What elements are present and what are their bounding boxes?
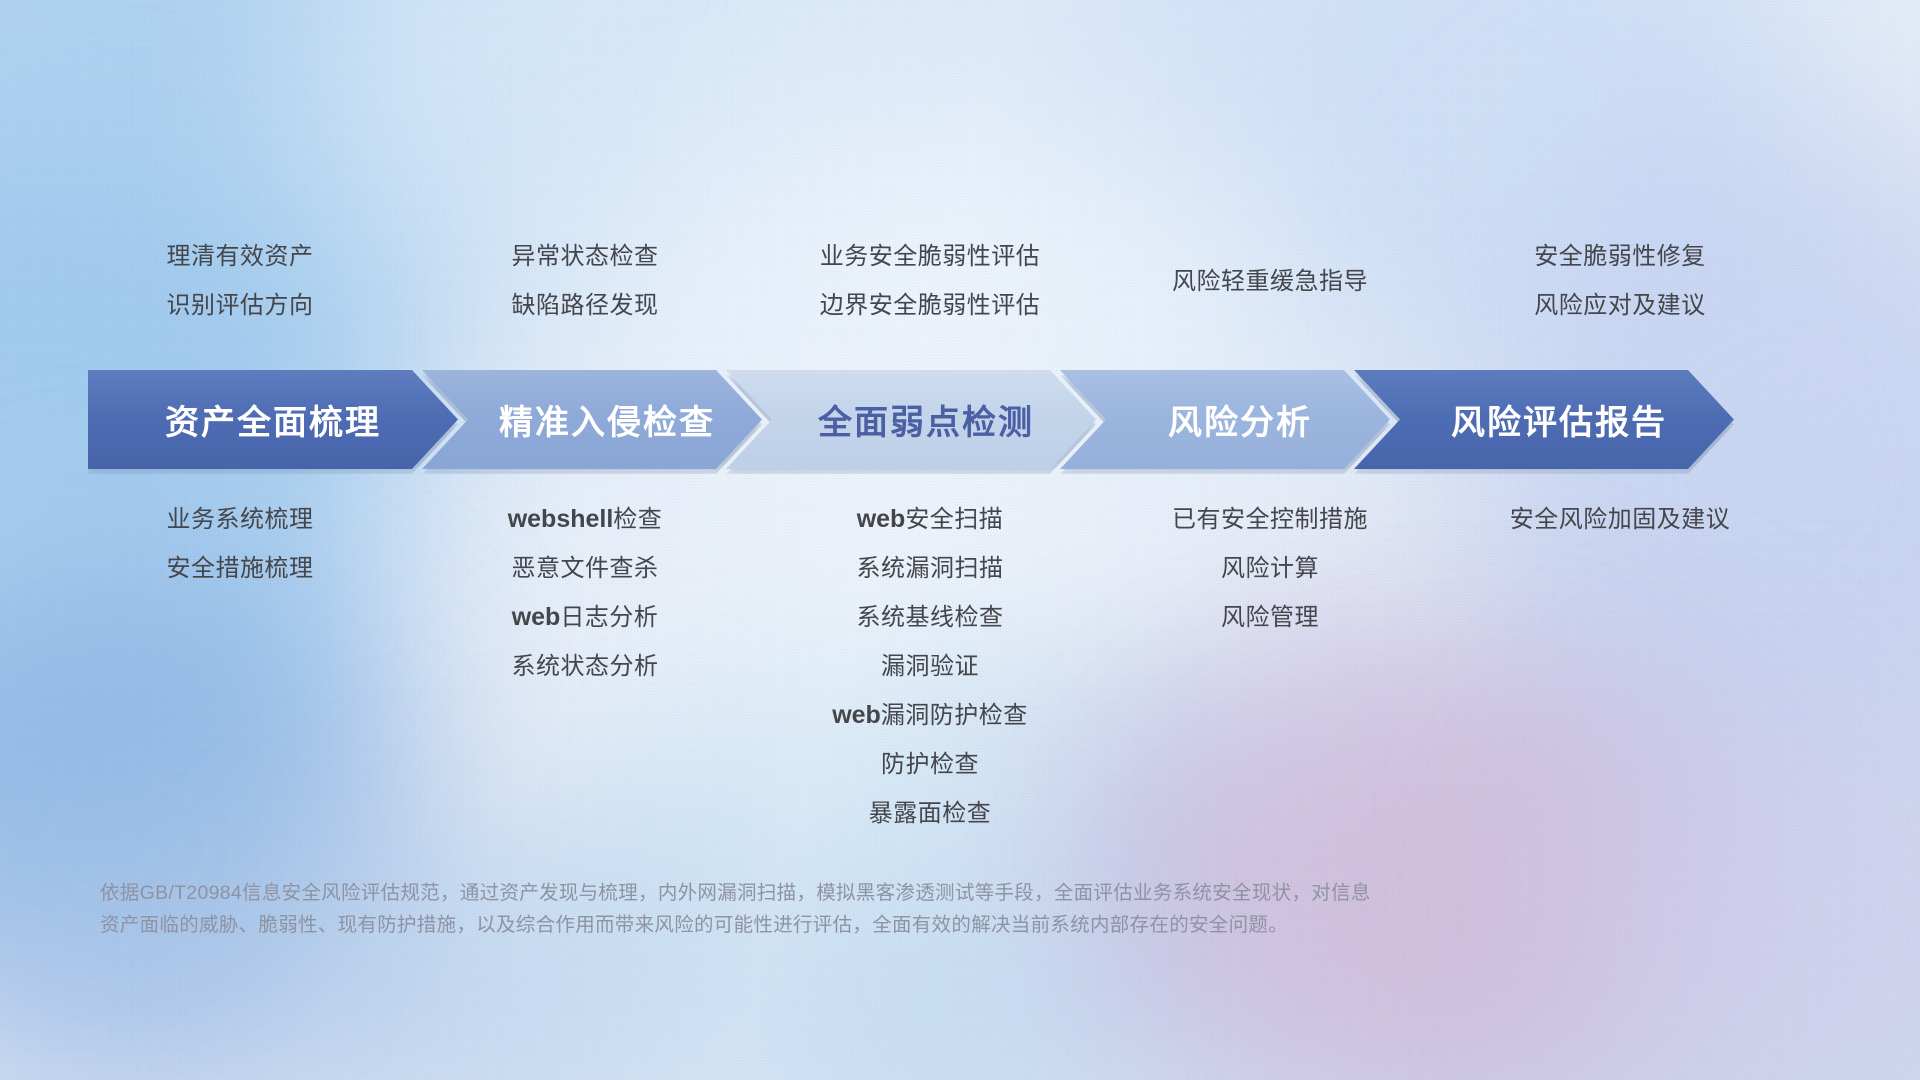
stage-label: 资产全面梳理 [165, 395, 381, 444]
top-item: 识别评估方向 [75, 281, 405, 330]
bottom-item-text: 防护检查 [881, 751, 979, 778]
top-items-asset-inventory: 理清有效资产识别评估方向 [75, 232, 405, 330]
bottom-item: 风险计算 [1125, 544, 1415, 593]
bottom-items-risk-analysis: 已有安全控制措施风险计算风险管理 [1125, 495, 1415, 642]
bottom-item: 恶意文件查杀 [435, 544, 735, 593]
top-item: 风险应对及建议 [1455, 281, 1785, 330]
top-item: 缺陷路径发现 [435, 281, 735, 330]
bottom-item: 漏洞验证 [765, 642, 1095, 691]
bottom-item-text: 恶意文件查杀 [512, 555, 659, 582]
bottom-item-text: 系统状态分析 [512, 653, 659, 680]
top-item: 边界安全脆弱性评估 [765, 281, 1095, 330]
bottom-item-text: 系统漏洞扫描 [857, 555, 1004, 582]
bottom-item-text: 日志分析 [560, 604, 658, 631]
bottom-item-text: 系统基线检查 [857, 604, 1004, 631]
bottom-item: 已有安全控制措施 [1125, 495, 1415, 544]
bottom-detail-row: 业务系统梳理安全措施梳理webshell检查恶意文件查杀web日志分析系统状态分… [0, 495, 1920, 838]
bottom-items-intrusion-check: webshell检查恶意文件查杀web日志分析系统状态分析 [435, 495, 735, 691]
bottom-item: 安全措施梳理 [75, 544, 405, 593]
bottom-item-text: 漏洞防护检查 [881, 702, 1028, 729]
bottom-item: 暴露面检查 [765, 789, 1095, 838]
top-item: 业务安全脆弱性评估 [765, 232, 1095, 281]
bottom-item-text: 安全风险加固及建议 [1510, 506, 1731, 533]
bottom-item: 风险管理 [1125, 593, 1415, 642]
bottom-item: web日志分析 [435, 593, 735, 642]
bottom-item: webshell检查 [435, 495, 735, 544]
bottom-item-en: web [512, 603, 561, 631]
bottom-items-asset-inventory: 业务系统梳理安全措施梳理 [75, 495, 405, 593]
stage-chevron-risk-report[interactable]: 风险评估报告 [1354, 370, 1734, 469]
top-items-risk-analysis: 风险轻重缓急指导 [1125, 232, 1415, 306]
footer-line-2: 资产面临的威胁、脆弱性、现有防护措施，以及综合作用而带来风险的可能性进行评估，全… [100, 909, 1640, 941]
bottom-item-text: 已有安全控制措施 [1172, 506, 1368, 533]
top-items-risk-report: 安全脆弱性修复风险应对及建议 [1455, 232, 1785, 330]
bottom-item-en: web [857, 505, 906, 533]
bottom-item-text: 暴露面检查 [869, 800, 992, 827]
bottom-item-en: webshell [508, 505, 614, 533]
stage-chevron-risk-analysis[interactable]: 风险分析 [1060, 370, 1390, 469]
stage-label: 全面弱点检测 [818, 395, 1034, 444]
top-items-intrusion-check: 异常状态检查缺陷路径发现 [435, 232, 735, 330]
stage-chevron-band: 资产全面梳理精准入侵检查全面弱点检测风险分析风险评估报告 [88, 370, 1878, 469]
bottom-item: 安全风险加固及建议 [1455, 495, 1785, 544]
bottom-item-text: 检查 [613, 506, 662, 533]
bottom-item: 防护检查 [765, 740, 1095, 789]
top-item: 安全脆弱性修复 [1455, 232, 1785, 281]
bottom-item-text: 业务系统梳理 [167, 506, 314, 533]
stage-label: 精准入侵检查 [499, 395, 715, 444]
bottom-item: web安全扫描 [765, 495, 1095, 544]
bottom-item: 业务系统梳理 [75, 495, 405, 544]
stage-chevron-weakness-detection[interactable]: 全面弱点检测 [726, 370, 1096, 469]
stage-chevron-asset-inventory[interactable]: 资产全面梳理 [88, 370, 458, 469]
bottom-item-text: 风险管理 [1221, 604, 1319, 631]
footer-line-1: 依据GB/T20984信息安全风险评估规范，通过资产发现与梳理，内外网漏洞扫描，… [100, 877, 1640, 909]
top-label-row: 理清有效资产识别评估方向异常状态检查缺陷路径发现业务安全脆弱性评估边界安全脆弱性… [0, 232, 1920, 330]
bottom-item-text: 安全措施梳理 [167, 555, 314, 582]
bottom-items-weakness-detection: web安全扫描系统漏洞扫描系统基线检查漏洞验证web漏洞防护检查防护检查暴露面检… [765, 495, 1095, 838]
top-item: 异常状态检查 [435, 232, 735, 281]
bottom-item-text: 风险计算 [1221, 555, 1319, 582]
bottom-items-risk-report: 安全风险加固及建议 [1455, 495, 1785, 544]
top-items-weakness-detection: 业务安全脆弱性评估边界安全脆弱性评估 [765, 232, 1095, 330]
bottom-item: web漏洞防护检查 [765, 691, 1095, 740]
top-item: 理清有效资产 [75, 232, 405, 281]
bottom-item-en: web [832, 701, 881, 729]
bottom-item-text: 安全扫描 [905, 506, 1003, 533]
bottom-item: 系统基线检查 [765, 593, 1095, 642]
bottom-item-text: 漏洞验证 [881, 653, 979, 680]
top-item: 风险轻重缓急指导 [1125, 257, 1415, 306]
stage-label: 风险评估报告 [1451, 395, 1667, 444]
footer-description: 依据GB/T20984信息安全风险评估规范，通过资产发现与梳理，内外网漏洞扫描，… [100, 877, 1640, 941]
stage-chevron-intrusion-check[interactable]: 精准入侵检查 [422, 370, 762, 469]
stage-label: 风险分析 [1168, 395, 1312, 444]
bottom-item: 系统状态分析 [435, 642, 735, 691]
bottom-item: 系统漏洞扫描 [765, 544, 1095, 593]
